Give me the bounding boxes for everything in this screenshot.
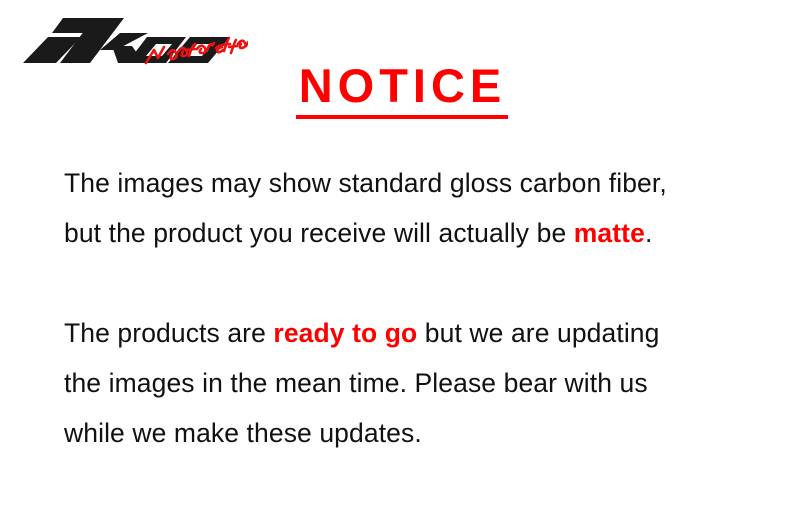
- paragraph-two-line-one-prefix: The products are: [64, 318, 273, 348]
- notice-heading-underline: [296, 115, 508, 119]
- paragraph-two-line-three: while we make these updates.: [64, 408, 764, 458]
- ready-to-go-emphasis: ready to go: [273, 318, 417, 348]
- notice-card: NOTICE The images may show standard glos…: [0, 0, 800, 510]
- ikon-wordmark-icon: [23, 18, 230, 63]
- notice-body: The images may show standard gloss carbo…: [64, 158, 764, 458]
- paragraph-two-line-one: The products are ready to go but we are …: [64, 308, 764, 358]
- notice-paragraph-one: The images may show standard gloss carbo…: [64, 158, 764, 258]
- paragraph-one-line-one-text: The images may show standard gloss carbo…: [64, 168, 667, 198]
- paragraph-two-line-two: the images in the mean time. Please bear…: [64, 358, 764, 408]
- paragraph-one-line-one: The images may show standard gloss carbo…: [64, 158, 764, 208]
- ikon-motorsports-logo-icon: [8, 6, 248, 68]
- notice-heading-container: NOTICE: [0, 62, 800, 109]
- paragraph-two-line-one-suffix: but we are updating: [417, 318, 659, 348]
- paragraph-one-line-two: but the product you receive will actuall…: [64, 208, 764, 258]
- paragraph-two-line-two-text: the images in the mean time. Please bear…: [64, 368, 648, 398]
- matte-emphasis: matte: [574, 218, 645, 248]
- paragraph-two-line-three-text: while we make these updates.: [64, 418, 422, 448]
- notice-heading: NOTICE: [294, 62, 507, 109]
- notice-paragraph-two: The products are ready to go but we are …: [64, 308, 764, 458]
- brand-logo: [8, 6, 248, 68]
- paragraph-one-line-two-suffix: .: [645, 218, 652, 248]
- paragraph-one-line-two-prefix: but the product you receive will actuall…: [64, 218, 574, 248]
